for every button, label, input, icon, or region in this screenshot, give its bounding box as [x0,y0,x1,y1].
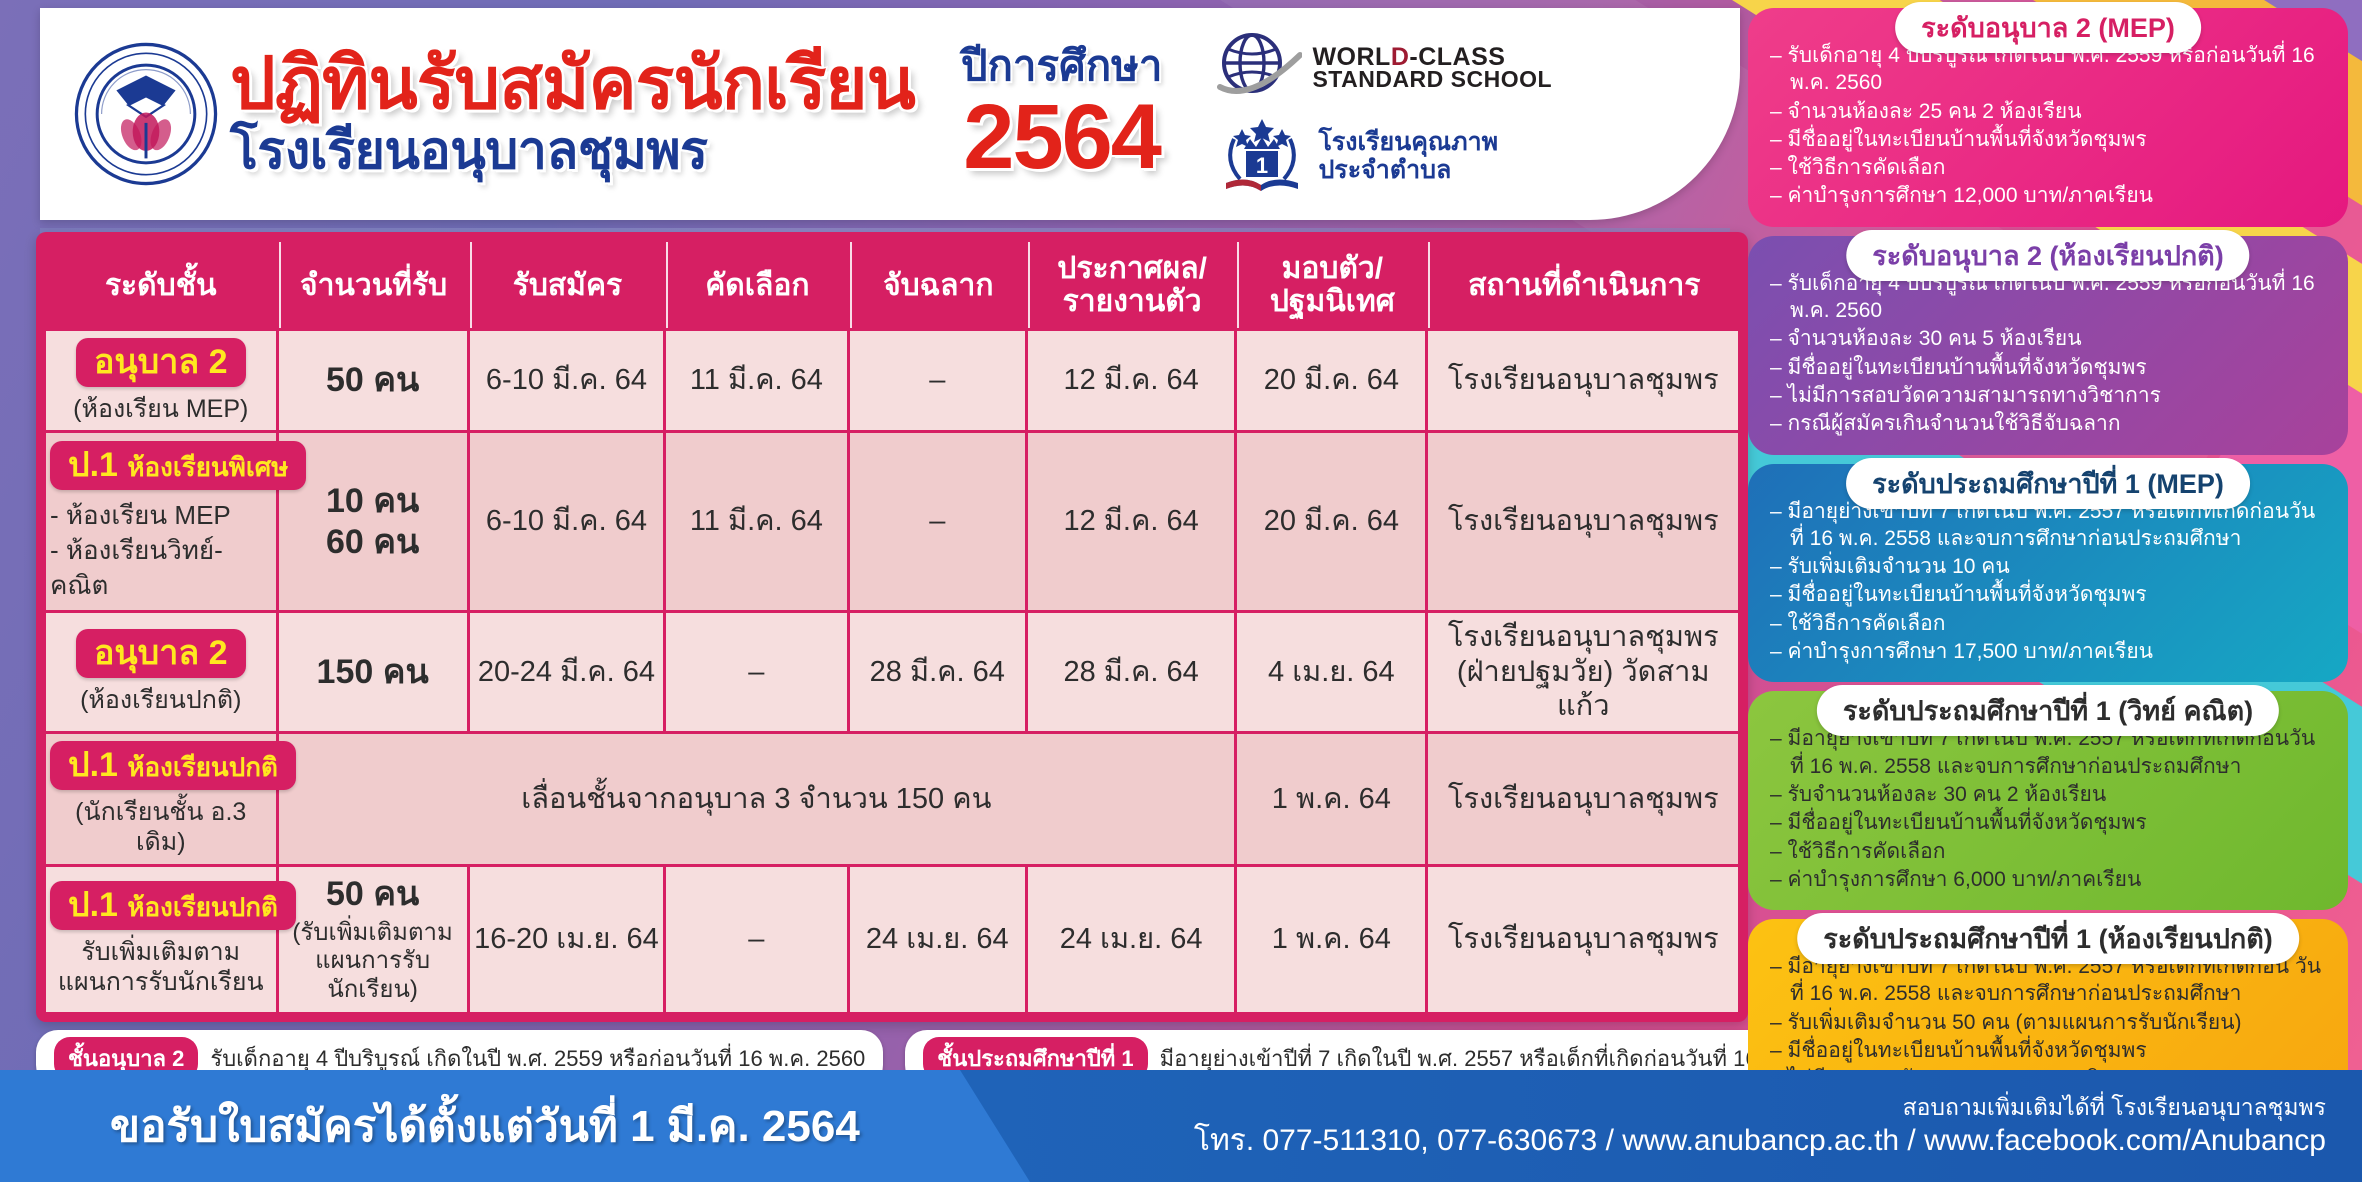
level-note-l2: แผนการรับนักเรียน [50,967,272,997]
quota-value-2: 60 คน [283,522,463,563]
quota-sub-l2: แผนการรับนักเรียน) [283,947,463,1005]
footer-contact-line2: โทร. 077-511310, 077-630673 / www.anuban… [1194,1122,2326,1159]
cell-select: 11 มี.ค. 64 [666,433,847,610]
quality-line2: ประจำตำบล [1318,156,1498,184]
info-card-item: – จำนวนห้องละ 25 คน 2 ห้องเรียน [1770,98,2328,125]
cell-apply: 16-20 เม.ย. 64 [470,867,663,1012]
info-card-item: – รับเพิ่มเติมจำนวน 50 คน (ตามแผนการรับน… [1770,1009,2328,1036]
col-header-report-l2: ปฐมนิเทศ [1270,285,1395,318]
title-block: ปฏิทินรับสมัครนักเรียน โรงเรียนอนุบาลชุม… [230,49,915,178]
cell-level: ป.1 ห้องเรียนปกติ รับเพิ่มเติมตาม แผนการ… [46,867,276,1012]
info-card-item: – มีชื่ออยู่ในทะเบียนบ้านพื้นที่จังหวัดช… [1770,809,2328,836]
col-header-report: มอบตัว/ ปฐมนิเทศ [1237,242,1425,328]
level-badge: ป.1 ห้องเรียนปกติ [50,741,296,790]
cell-select: 11 มี.ค. 64 [666,331,847,430]
cell-quota: 50 คน (รับเพิ่มเติมตาม แผนการรับนักเรียน… [279,867,467,1012]
footer-bar: ขอรับใบสมัครได้ตั้งแต่วันที่ 1 มี.ค. 256… [0,1070,2362,1182]
quota-value: 50 คน [283,874,463,915]
page-subtitle: โรงเรียนอนุบาลชุมพร [230,124,915,179]
footer-headline: ขอรับใบสมัครได้ตั้งแต่วันที่ 1 มี.ค. 256… [110,1091,860,1161]
level-badge: อนุบาล 2 [76,629,246,678]
year-label: ปีการศึกษา [961,45,1163,87]
cell-merged-promotion: เลื่อนชั้นจากอนุบาล 3 จำนวน 150 คน [279,734,1235,864]
cell-place: โรงเรียนอนุบาลชุมพร [1428,433,1738,610]
place-line2: (ฝ่ายปฐมวัย) วัดสามแก้ว [1432,655,1734,725]
page-title: ปฏิทินรับสมัครนักเรียน [230,49,915,120]
quota-sub: (รับเพิ่มเติมตาม แผนการรับนักเรียน) [283,919,463,1005]
col-header-apply: รับสมัคร [470,242,663,328]
svg-text:1: 1 [1256,153,1268,178]
info-card-item: – มีชื่ออยู่ในทะเบียนบ้านพื้นที่จังหวัดช… [1770,1037,2328,1064]
info-card-item: – ค่าบำรุงการศึกษา 12,000 บาท/ภาคเรียน [1770,182,2328,209]
info-card-primary1-mep: ระดับประถมศึกษาปีที่ 1 (MEP) – มีอายุย่า… [1748,464,2348,683]
poster-root: ปฏิทินรับสมัครนักเรียน โรงเรียนอนุบาลชุม… [0,0,2362,1182]
quality-school-badge: 1 โรงเรียนคุณภาพ ประจำตำบล [1216,113,1552,199]
cell-apply: 6-10 มี.ค. 64 [470,331,663,430]
level-note: (นักเรียนชั้น อ.3 เดิม) [50,797,272,857]
table-row: อนุบาล 2 (ห้องเรียนปกติ) 150 คน 20-24 มี… [46,613,1738,731]
footer-contact: สอบถามเพิ่มเติมได้ที่ โรงเรียนอนุบาลชุมพ… [1194,1093,2326,1159]
cell-level: อนุบาล 2 (ห้องเรียนปกติ) [46,613,276,731]
cell-quota: 10 คน 60 คน [279,433,467,610]
cell-report: 1 พ.ค. 64 [1237,734,1425,864]
cell-place: โรงเรียนอนุบาลชุมพร [1428,331,1738,430]
info-card-item: – กรณีผู้สมัครเกินจำนวนใช้วิธีจับฉลาก [1770,410,2328,437]
level-badge: อนุบาล 2 [76,338,246,387]
level-badge: ป.1 ห้องเรียนปกติ [50,881,296,930]
globe-icon [1216,29,1302,107]
cell-lottery: 28 มี.ค. 64 [850,613,1025,731]
info-card-item: – ค่าบำรุงการศึกษา 17,500 บาท/ภาคเรียน [1770,638,2328,665]
col-header-place: สถานที่ดำเนินการ [1428,242,1738,328]
info-card-list: – รับเด็กอายุ 4 ปีบริบูรณ์ เกิดในปี พ.ศ.… [1770,42,2328,210]
col-header-lottery: จับฉลาก [850,242,1025,328]
col-header-select: คัดเลือก [666,242,847,328]
info-card-title: ระดับอนุบาล 2 (MEP) [1895,2,2201,53]
wreath-crown-icon: 1 [1216,113,1308,199]
info-card-item: – รับจำนวนห้องละ 30 คน 2 ห้องเรียน [1770,781,2328,808]
col-header-level: ระดับชั้น [46,242,276,328]
cell-report: 1 พ.ค. 64 [1237,867,1425,1012]
level-sublist: - ห้องเรียน MEP - ห้องเรียนวิทย์-คณิต [50,498,272,603]
school-seal-icon [72,40,220,188]
info-card-kindergarten2-regular: ระดับอนุบาล 2 (ห้องเรียนปกติ) – รับเด็กอ… [1748,236,2348,455]
info-card-title: ระดับประถมศึกษาปีที่ 1 (MEP) [1846,458,2250,509]
admission-calendar-table: ระดับชั้น จำนวนที่รับ รับสมัคร คัดเลือก … [43,239,1741,1015]
col-header-announce: ประกาศผล/ รายงานตัว [1028,242,1234,328]
accreditation-badges: WORLD-CLASS STANDARD SCHOOL 1 [1216,29,1552,199]
info-card-item: – มีชื่ออยู่ในทะเบียนบ้านพื้นที่จังหวัดช… [1770,581,2328,608]
quality-school-text: โรงเรียนคุณภาพ ประจำตำบล [1318,128,1498,184]
world-class-line2: STANDARD SCHOOL [1312,69,1552,90]
cell-level: ป.1 ห้องเรียนพิเศษ - ห้องเรียน MEP - ห้อ… [46,433,276,610]
cell-announce: 28 มี.ค. 64 [1028,613,1234,731]
info-card-primary1-sci-math: ระดับประถมศึกษาปีที่ 1 (วิทย์ คณิต) – มี… [1748,691,2348,910]
quality-line1: โรงเรียนคุณภาพ [1318,128,1498,156]
quota-value: 10 คน [283,481,463,522]
level-sublist-item: - ห้องเรียนวิทย์-คณิต [50,533,272,603]
table-row: ป.1 ห้องเรียนปกติ (นักเรียนชั้น อ.3 เดิม… [46,734,1738,864]
info-card-item: – มีชื่ออยู่ในทะเบียนบ้านพื้นที่จังหวัดช… [1770,354,2328,381]
col-header-announce-l1: ประกาศผล/ [1057,252,1207,285]
admission-calendar-table-container: ระดับชั้น จำนวนที่รับ รับสมัคร คัดเลือก … [36,232,1748,1022]
cell-level: อนุบาล 2 (ห้องเรียน MEP) [46,331,276,430]
cell-report: 20 มี.ค. 64 [1237,331,1425,430]
year-number: 2564 [961,91,1163,183]
academic-year-block: ปีการศึกษา 2564 [961,45,1163,183]
footer-contact-line1: สอบถามเพิ่มเติมได้ที่ โรงเรียนอนุบาลชุมพ… [1194,1093,2326,1122]
cell-place: โรงเรียนอนุบาลชุมพร (ฝ่ายปฐมวัย) วัดสามแ… [1428,613,1738,731]
info-card-item: – มีชื่ออยู่ในทะเบียนบ้านพื้นที่จังหวัดช… [1770,126,2328,153]
quota-value: 150 คน [283,652,463,693]
info-card-item: – รับเพิ่มเติมจำนวน 10 คน [1770,553,2328,580]
table-row: อนุบาล 2 (ห้องเรียน MEP) 50 คน 6-10 มี.ค… [46,331,1738,430]
info-card-title: ระดับประถมศึกษาปีที่ 1 (ห้องเรียนปกติ) [1797,913,2299,964]
info-card-item: – ใช้วิธีการคัดเลือก [1770,154,2328,181]
level-badge: ป.1 ห้องเรียนพิเศษ [50,441,306,490]
table-row: ป.1 ห้องเรียนพิเศษ - ห้องเรียน MEP - ห้อ… [46,433,1738,610]
table-row: ป.1 ห้องเรียนปกติ รับเพิ่มเติมตาม แผนการ… [46,867,1738,1012]
cell-lottery: – [850,331,1025,430]
level-note-l1: รับเพิ่มเติมตาม [50,937,272,967]
info-card-title: ระดับอนุบาล 2 (ห้องเรียนปกติ) [1846,230,2249,281]
col-header-quota: จำนวนที่รับ [279,242,467,328]
cell-place: โรงเรียนอนุบาลชุมพร [1428,734,1738,864]
quota-value: 50 คน [283,360,463,401]
info-card-item: – ค่าบำรุงการศึกษา 6,000 บาท/ภาคเรียน [1770,866,2328,893]
cell-level: ป.1 ห้องเรียนปกติ (นักเรียนชั้น อ.3 เดิม… [46,734,276,864]
info-card-item: – ไม่มีการสอบวัดความสามารถทางวิชาการ [1770,382,2328,409]
level-note: (ห้องเรียน MEP) [50,394,272,424]
level-note: (ห้องเรียนปกติ) [50,685,272,715]
info-card-list: – รับเด็กอายุ 4 ปีบริบูรณ์ เกิดในปี พ.ศ.… [1770,270,2328,438]
cell-quota: 50 คน [279,331,467,430]
cell-lottery: 24 เม.ย. 64 [850,867,1025,1012]
info-cards: ระดับอนุบาล 2 (MEP) – รับเด็กอายุ 4 ปีบร… [1748,8,2348,1138]
info-card-list: – มีอายุย่างเข้าปีที่ 7 เกิดในปี พ.ศ. 25… [1770,725,2328,893]
level-sublist-item: - ห้องเรียน MEP [50,498,272,533]
cell-announce: 12 มี.ค. 64 [1028,331,1234,430]
level-note: รับเพิ่มเติมตาม แผนการรับนักเรียน [50,937,272,997]
place-line1: โรงเรียนอนุบาลชุมพร [1432,620,1734,655]
cell-select: – [666,867,847,1012]
cell-report: 4 เม.ย. 64 [1237,613,1425,731]
info-card-title: ระดับประถมศึกษาปีที่ 1 (วิทย์ คณิต) [1817,685,2279,736]
info-card-item: – ใช้วิธีการคัดเลือก [1770,610,2328,637]
info-card-item: – ใช้วิธีการคัดเลือก [1770,838,2328,865]
header-banner: ปฏิทินรับสมัครนักเรียน โรงเรียนอนุบาลชุม… [40,8,1740,220]
cell-lottery: – [850,433,1025,610]
info-card-list: – มีอายุย่างเข้าปีที่ 7 เกิดในปี พ.ศ. 25… [1770,498,2328,666]
cell-quota: 150 คน [279,613,467,731]
world-class-badge: WORLD-CLASS STANDARD SCHOOL [1216,29,1552,107]
info-card-kindergarten2-mep: ระดับอนุบาล 2 (MEP) – รับเด็กอายุ 4 ปีบร… [1748,8,2348,227]
cell-select: – [666,613,847,731]
col-header-report-l1: มอบตัว/ [1282,252,1384,285]
cell-announce: 12 มี.ค. 64 [1028,433,1234,610]
cell-place: โรงเรียนอนุบาลชุมพร [1428,867,1738,1012]
quota-sub-l1: (รับเพิ่มเติมตาม [283,919,463,948]
info-card-item: – จำนวนห้องละ 30 คน 5 ห้องเรียน [1770,325,2328,352]
cell-apply: 20-24 มี.ค. 64 [470,613,663,731]
cell-report: 20 มี.ค. 64 [1237,433,1425,610]
table-header-row: ระดับชั้น จำนวนที่รับ รับสมัคร คัดเลือก … [46,242,1738,328]
cell-apply: 6-10 มี.ค. 64 [470,433,663,610]
col-header-announce-l2: รายงานตัว [1063,285,1202,318]
cell-announce: 24 เม.ย. 64 [1028,867,1234,1012]
